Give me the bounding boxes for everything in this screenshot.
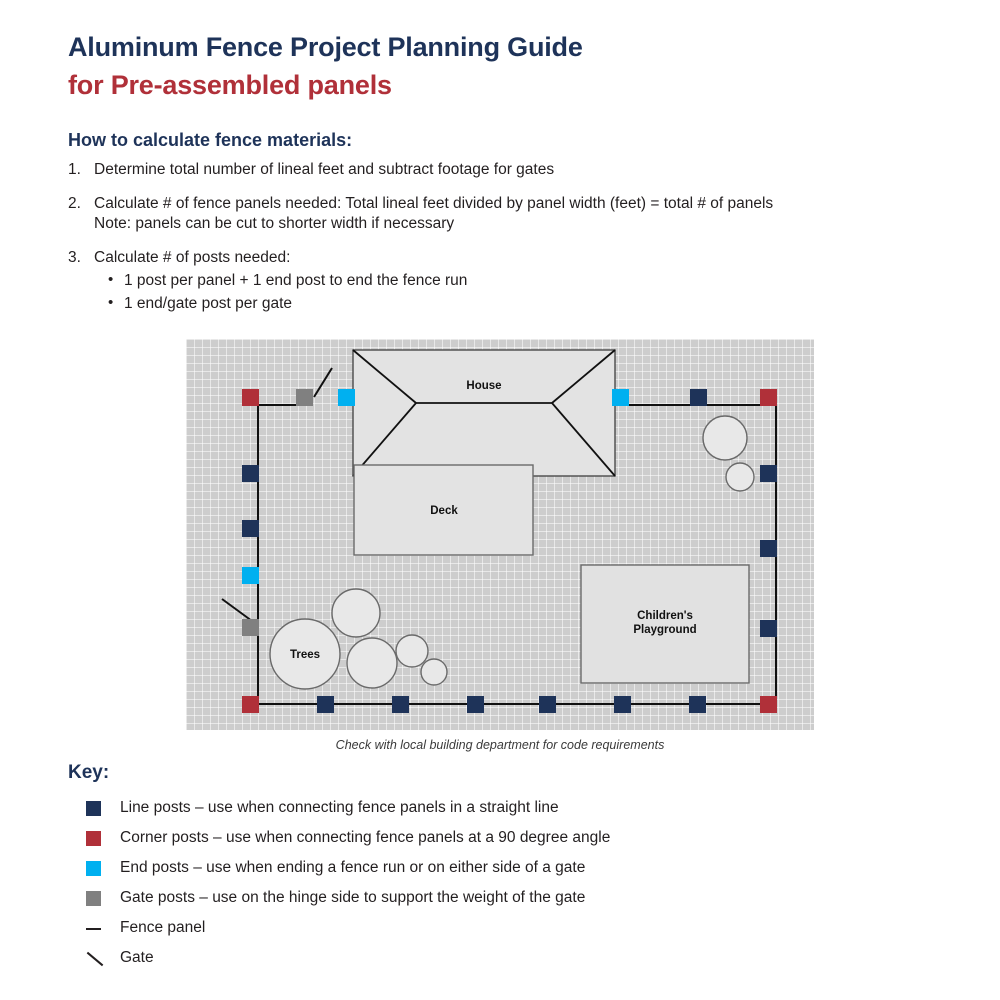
step-body: Calculate # of posts needed: • 1 post pe… — [94, 248, 938, 317]
yard-layout-diagram: House Deck Trees Children's Playground — [186, 339, 814, 730]
gate-line-icon — [86, 951, 101, 966]
key-list: Line posts – use when connecting fence p… — [86, 793, 946, 973]
corner-post-swatch-icon — [86, 831, 101, 846]
post-corner-bottom-right — [760, 696, 777, 713]
step-item: 1. Determine total number of lineal feet… — [68, 160, 938, 181]
post-line-bottom-1 — [317, 696, 334, 713]
key-item-label: Gate — [120, 949, 154, 967]
post-line-bottom-3 — [467, 696, 484, 713]
step-number: 2. — [68, 194, 94, 235]
howto-heading: How to calculate fence materials: — [68, 130, 352, 151]
key-item-gate: Gate — [86, 943, 946, 973]
key-item-gate-posts: Gate posts – use on the hinge side to su… — [86, 883, 946, 913]
label-house: House — [419, 379, 549, 393]
page-subtitle: for Pre-assembled panels — [68, 68, 928, 102]
post-line-right-3 — [760, 620, 777, 637]
step-note: Note: panels can be cut to shorter width… — [94, 214, 938, 235]
sublist-item: • 1 end/gate post per gate — [94, 294, 938, 315]
house-shape — [353, 350, 615, 476]
label-trees: Trees — [255, 648, 355, 662]
post-corner-top-left — [242, 389, 259, 406]
key-item-label: Fence panel — [120, 919, 205, 937]
key-item-label: Corner posts – use when connecting fence… — [120, 829, 610, 847]
key-item-line-posts: Line posts – use when connecting fence p… — [86, 793, 946, 823]
diagram-vector-layer — [186, 339, 814, 730]
post-corner-top-right — [760, 389, 777, 406]
gate-line-top — [314, 368, 332, 397]
post-line-bottom-2 — [392, 696, 409, 713]
key-item-label: Gate posts – use on the hinge side to su… — [120, 889, 585, 907]
post-end-top-left — [338, 389, 355, 406]
step-item: 2. Calculate # of fence panels needed: T… — [68, 194, 938, 235]
key-item-corner-posts: Corner posts – use when connecting fence… — [86, 823, 946, 853]
post-gate-left — [242, 619, 259, 636]
step-text: Determine total number of lineal feet an… — [94, 161, 554, 178]
key-item-end-posts: End posts – use when ending a fence run … — [86, 853, 946, 883]
key-item-label: Line posts – use when connecting fence p… — [120, 799, 559, 817]
post-line-left-1 — [242, 465, 259, 482]
howto-steps: 1. Determine total number of lineal feet… — [68, 160, 938, 330]
step-body: Calculate # of fence panels needed: Tota… — [94, 194, 938, 235]
post-line-top-1 — [690, 389, 707, 406]
post-gate-top — [296, 389, 313, 406]
step-number: 3. — [68, 248, 94, 317]
post-line-right-2 — [760, 540, 777, 557]
label-deck: Deck — [379, 504, 509, 518]
key-item-fence-panel: Fence panel — [86, 913, 946, 943]
step-text: Calculate # of fence panels needed: Tota… — [94, 195, 773, 212]
end-post-swatch-icon — [86, 861, 101, 876]
step-item: 3. Calculate # of posts needed: • 1 post… — [68, 248, 938, 317]
post-line-bottom-6 — [689, 696, 706, 713]
key-item-label: End posts – use when ending a fence run … — [120, 859, 585, 877]
step-sublist: • 1 post per panel + 1 end post to end t… — [94, 271, 938, 314]
post-line-left-2 — [242, 520, 259, 537]
gate-post-swatch-icon — [86, 891, 101, 906]
post-line-bottom-5 — [614, 696, 631, 713]
label-playground: Children's Playground — [600, 609, 730, 638]
post-line-right-1 — [760, 465, 777, 482]
sublist-text: 1 end/gate post per gate — [124, 295, 292, 312]
sublist-item: • 1 post per panel + 1 end post to end t… — [94, 271, 938, 292]
post-end-left — [242, 567, 259, 584]
step-body: Determine total number of lineal feet an… — [94, 160, 938, 181]
key-heading: Key: — [68, 762, 109, 784]
tree-circles-upper-right — [703, 416, 754, 491]
gate-line-left — [222, 599, 252, 621]
diagram-caption: Check with local building department for… — [186, 738, 814, 752]
bullet-icon: • — [108, 270, 113, 290]
step-number: 1. — [68, 160, 94, 181]
post-corner-bottom-left — [242, 696, 259, 713]
page-root: Aluminum Fence Project Planning Guide fo… — [0, 0, 1000, 1000]
post-line-bottom-4 — [539, 696, 556, 713]
sublist-text: 1 post per panel + 1 end post to end the… — [124, 272, 467, 289]
tree-circles — [270, 589, 447, 689]
line-post-swatch-icon — [86, 801, 101, 816]
step-text: Calculate # of posts needed: — [94, 249, 290, 266]
post-end-top-right — [612, 389, 629, 406]
page-title: Aluminum Fence Project Planning Guide — [68, 30, 928, 64]
fence-panel-line-icon — [86, 921, 101, 936]
bullet-icon: • — [108, 293, 113, 313]
